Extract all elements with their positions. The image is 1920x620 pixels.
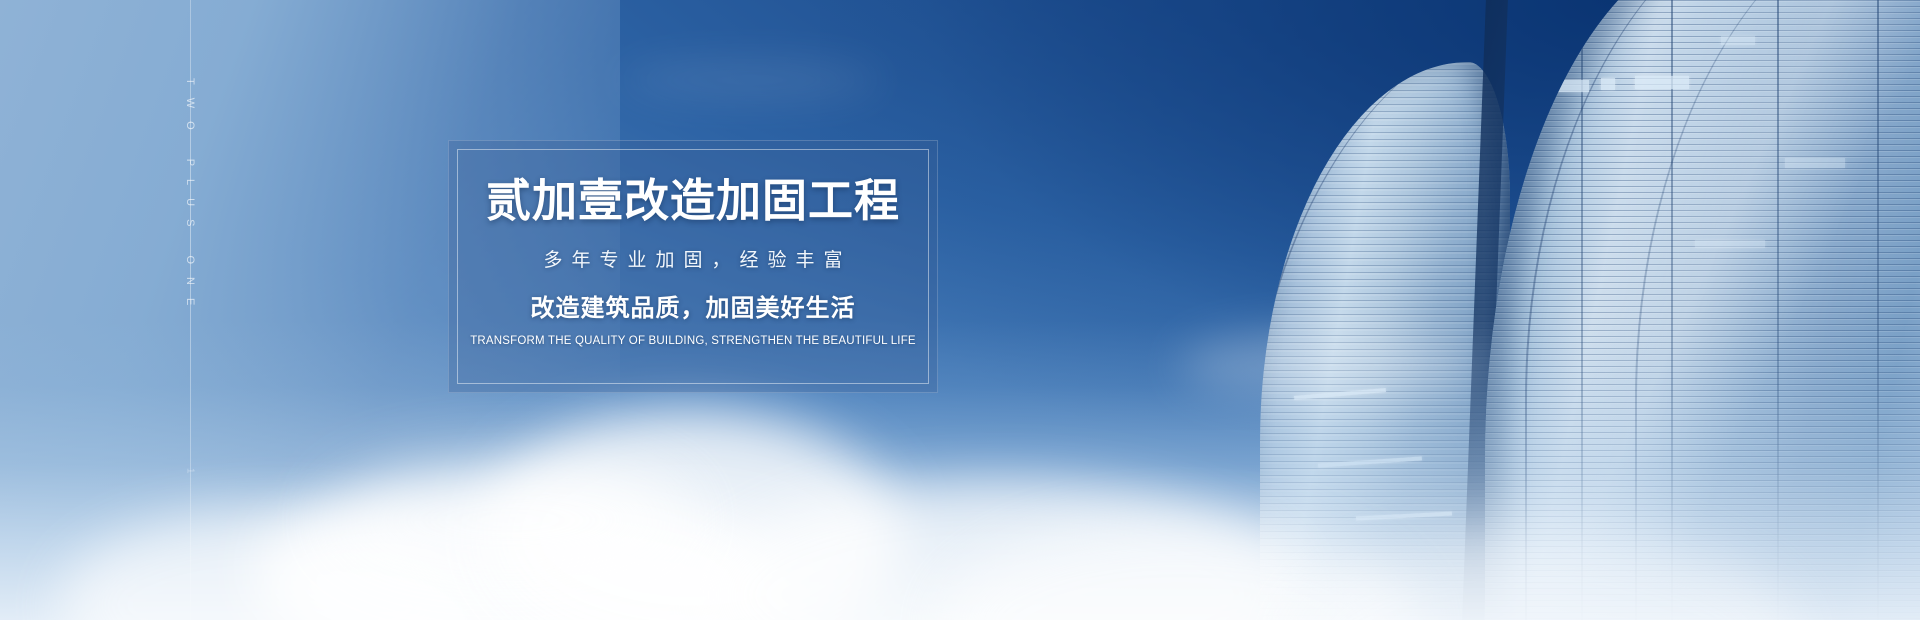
window-panel: [1695, 240, 1765, 248]
hero-panel-content: 贰加壹改造加固工程 多年专业加固，经验丰富 改造建筑品质，加固美好生活 TRAN…: [448, 140, 938, 393]
cloud-wisp: [1180, 330, 1480, 400]
banner-hero: TWO PLUS ONE 1 贰加壹改造加固工程 多年专业加固，经验丰富 改造建…: [0, 0, 1920, 620]
hero-tagline: 改造建筑品质，加固美好生活: [531, 296, 856, 320]
window-panel: [1549, 80, 1589, 92]
vertical-slide-number: 1: [185, 468, 196, 478]
hero-subtitle: 多年专业加固，经验丰富: [534, 251, 851, 270]
vertical-brand-label: TWO PLUS ONE: [184, 78, 196, 318]
cloud-wisp: [620, 60, 880, 100]
hero-english-tagline: TRANSFORM THE QUALITY OF BUILDING, STREN…: [470, 336, 916, 348]
window-panel: [1721, 36, 1755, 45]
window-panel: [1601, 78, 1615, 90]
hero-text-panel: 贰加壹改造加固工程 多年专业加固，经验丰富 改造建筑品质，加固美好生活 TRAN…: [448, 140, 938, 393]
window-panel: [1635, 76, 1689, 89]
hero-title: 贰加壹改造加固工程: [486, 178, 900, 223]
window-panel: [1785, 158, 1845, 168]
cloud: [330, 460, 690, 580]
